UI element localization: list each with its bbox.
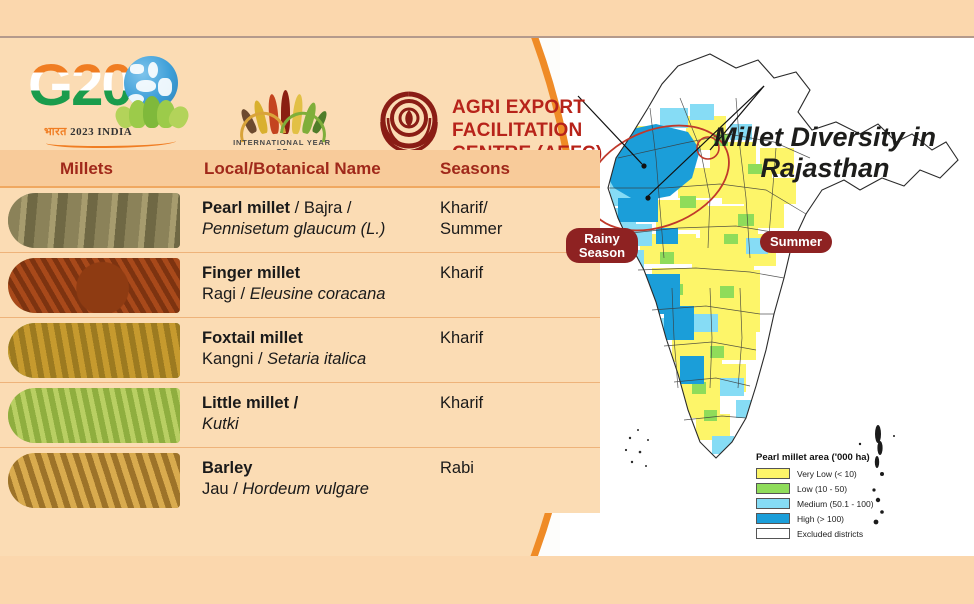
legend-swatch-very-low <box>756 468 790 479</box>
finger-millet-photo <box>6 256 182 315</box>
aefc-line1: AGRI EXPORT <box>452 96 622 119</box>
cell-name: Foxtail millet Kangni / Setaria italica <box>202 328 432 371</box>
legend-label-very-low: Very Low (< 10) <box>797 469 857 479</box>
sep: / <box>253 350 267 368</box>
column-header-seasons: Seasons <box>440 159 510 179</box>
legend-item: Medium (50.1 - 100) <box>756 496 906 511</box>
table-row: Foxtail millet Kangni / Setaria italica … <box>0 318 600 383</box>
logo-bar: G20 भारत 2023 INDIA <box>0 38 620 150</box>
sep: / <box>236 285 250 303</box>
table-row: Barley Jau / Hordeum vulgare Rabi <box>0 448 600 513</box>
legend-title: Pearl millet area ('000 ha) <box>756 452 906 463</box>
legend-swatch-excluded <box>756 528 790 539</box>
legend-label-medium: Medium (50.1 - 100) <box>797 499 874 509</box>
column-header-millets: Millets <box>60 159 113 179</box>
millets-table: Millets Local/Botanical Name Seasons Pea… <box>0 150 600 513</box>
map-title: Millet Diversity in Rajasthan <box>690 122 960 184</box>
botanical-name: Setaria italica <box>267 350 366 368</box>
botanical-name: Hordeum vulgare <box>242 480 369 498</box>
cell-name: Pearl millet / Bajra / Pennisetum glaucu… <box>202 198 432 241</box>
callout-rainy-season: Rainy Season <box>566 228 638 263</box>
column-header-local-botanical-name: Local/Botanical Name <box>204 159 381 179</box>
sep: / <box>229 480 243 498</box>
table-row: Finger millet Ragi / Eleusine coracana K… <box>0 253 600 318</box>
g20-lotus-icon <box>116 94 188 128</box>
botanical-name: Eleusine coracana <box>250 285 386 303</box>
cell-season: Kharif <box>440 263 483 284</box>
botanical-name: Kutki <box>202 415 239 433</box>
barley-photo <box>6 451 182 510</box>
botanical-name: Pennisetum glaucum (L.) <box>202 220 385 238</box>
map-title-line2: Rajasthan <box>690 153 960 184</box>
top-divider-line <box>0 36 974 38</box>
table-row: Pearl millet / Bajra / Pennisetum glaucu… <box>0 188 600 253</box>
cupped-hands-icon <box>238 112 330 138</box>
g20-logo: G20 भारत 2023 INDIA <box>28 50 188 140</box>
foxtail-millet-photo <box>6 321 182 380</box>
legend-swatch-low <box>756 483 790 494</box>
legend-item: Low (10 - 50) <box>756 481 906 496</box>
g20-subtitle: भारत 2023 INDIA <box>44 124 132 139</box>
cell-name: Finger millet Ragi / Eleusine coracana <box>202 263 432 306</box>
sep: / <box>290 199 304 217</box>
legend-item: High (> 100) <box>756 511 906 526</box>
poster-canvas: Millet Diversity in Rajasthan Rainy Seas… <box>0 38 974 556</box>
table-row: Little millet / Kutki Kharif <box>0 383 600 448</box>
map-title-line1: Millet Diversity in <box>690 122 960 153</box>
callout-summer: Summer <box>760 231 832 253</box>
table-header-row: Millets Local/Botanical Name Seasons <box>0 150 600 188</box>
local-name: Jau <box>202 480 229 498</box>
common-name: Finger millet <box>202 264 300 282</box>
nabard-emblem-icon <box>374 88 444 158</box>
cell-name: Little millet / Kutki <box>202 393 432 436</box>
legend-item: Excluded districts <box>756 526 906 541</box>
lakshadweep-islands <box>625 429 649 467</box>
sep: / <box>342 199 351 217</box>
common-name: Barley <box>202 459 252 477</box>
legend-label-low: Low (10 - 50) <box>797 484 847 494</box>
local-name: Kangni <box>202 350 253 368</box>
legend-swatch-medium <box>756 498 790 509</box>
pearl-millet-photo <box>6 191 182 250</box>
legend-units: ('000 ha) <box>832 452 870 463</box>
local-name: Ragi <box>202 285 236 303</box>
cell-season: Kharif/Summer <box>440 198 502 241</box>
aefc-line2: FACILITATION <box>452 119 622 142</box>
cell-season: Rabi <box>440 458 474 479</box>
local-name: Bajra <box>304 199 343 217</box>
legend-label-excluded: Excluded districts <box>797 529 863 539</box>
common-name: Pearl millet <box>202 199 290 217</box>
little-millet-photo <box>6 386 182 445</box>
legend-swatch-high <box>756 513 790 524</box>
common-name: Foxtail millet <box>202 329 303 347</box>
legend-item: Very Low (< 10) <box>756 466 906 481</box>
legend-label-high: High (> 100) <box>797 514 844 524</box>
g20-subtitle-english: 2023 INDIA <box>70 126 132 138</box>
common-name: Little millet / <box>202 394 298 412</box>
map-legend: Pearl millet area ('000 ha) Very Low (< … <box>756 452 906 541</box>
legend-title-text: Pearl millet area <box>756 452 829 463</box>
g20-subtitle-devanagari: भारत <box>44 126 67 138</box>
cell-season: Kharif <box>440 393 483 414</box>
cell-name: Barley Jau / Hordeum vulgare <box>202 458 432 501</box>
cell-season: Kharif <box>440 328 483 349</box>
